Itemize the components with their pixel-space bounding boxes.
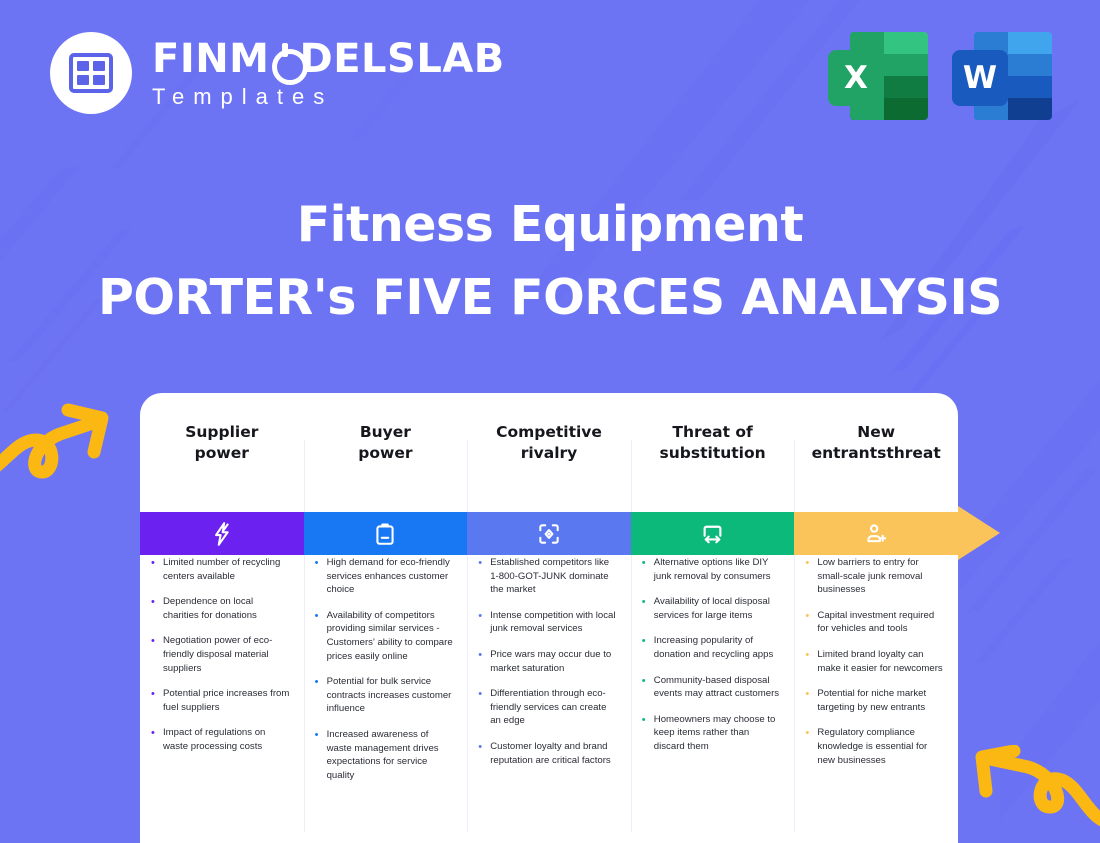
- bullet-text: Established competitors like 1-800-GOT-J…: [490, 556, 617, 597]
- bullet-text: Impact of regulations on waste processin…: [163, 726, 290, 753]
- bullet-dot-icon: •: [642, 595, 648, 622]
- brand-logo: FINMDELSLAB Templates: [50, 32, 505, 114]
- bullet-dot-icon: •: [478, 687, 484, 728]
- bullet-text: Customer loyalty and brand reputation ar…: [490, 740, 617, 767]
- force-header-line2: power: [358, 444, 412, 462]
- list-item: •Intense competition with local junk rem…: [478, 609, 617, 636]
- force-header-line1: Competitive: [496, 423, 602, 441]
- list-item: •Limited number of recycling centers ava…: [151, 556, 290, 583]
- list-item: •Homeowners may choose to keep items rat…: [642, 713, 781, 754]
- bullet-list-threat-of-substitution: •Alternative options like DIY junk remov…: [631, 541, 795, 754]
- bullet-text: Capital investment required for vehicles…: [817, 609, 944, 636]
- bullet-text: Dependence on local charities for donati…: [163, 595, 290, 622]
- bullet-list-new-entrants-threat: •Low barriers to entry for small-scale j…: [794, 541, 958, 767]
- force-header-line1: Supplier: [185, 423, 258, 441]
- bullet-text: Availability of competitors providing si…: [327, 609, 454, 663]
- bullet-dot-icon: •: [151, 687, 157, 714]
- bullet-dot-icon: •: [805, 687, 811, 714]
- bullet-list-buyer-power: •High demand for eco-friendly services e…: [304, 541, 468, 783]
- bullet-dot-icon: •: [478, 556, 484, 597]
- bullet-text: Alternative options like DIY junk remova…: [654, 556, 781, 583]
- force-column-buyer-power: Buyer power •High demand for eco-friendl…: [304, 393, 468, 843]
- bullet-text: Differentiation through eco-friendly ser…: [490, 687, 617, 728]
- force-header-line2: entrantsthreat: [812, 444, 941, 462]
- brand-name: FINMDELSLAB: [152, 39, 505, 79]
- bullet-dot-icon: •: [151, 556, 157, 583]
- force-column-threat-of-substitution: Threat of substitution •Alternative opti…: [631, 393, 795, 843]
- list-item: •Capital investment required for vehicle…: [805, 609, 944, 636]
- bullet-dot-icon: •: [642, 713, 648, 754]
- bullet-text: Increasing popularity of donation and re…: [654, 634, 781, 661]
- list-item: •Potential price increases from fuel sup…: [151, 687, 290, 714]
- brand-name-part1: FINM: [152, 36, 270, 82]
- bullet-list-supplier-power: •Limited number of recycling centers ava…: [140, 541, 304, 754]
- list-item: •Low barriers to entry for small-scale j…: [805, 556, 944, 597]
- list-item: •Potential for niche market targeting by…: [805, 687, 944, 714]
- list-item: •Increased awareness of waste management…: [315, 728, 454, 782]
- list-item: •Regulatory compliance knowledge is esse…: [805, 726, 944, 767]
- bullet-text: Potential price increases from fuel supp…: [163, 687, 290, 714]
- bullet-text: Limited brand loyalty can make it easier…: [817, 648, 944, 675]
- force-header-line2: substitution: [660, 444, 766, 462]
- squiggle-arrow-down-left-icon: [958, 745, 1100, 840]
- bullet-text: Availability of local disposal services …: [654, 595, 781, 622]
- bullet-dot-icon: •: [315, 675, 321, 716]
- page-subtitle: Fitness Equipment: [0, 196, 1100, 253]
- bullet-dot-icon: •: [805, 609, 811, 636]
- bullet-text: Homeowners may choose to keep items rath…: [654, 713, 781, 754]
- excel-icon-letter: X: [828, 50, 884, 106]
- bullet-text: Price wars may occur due to market satur…: [490, 648, 617, 675]
- force-column-new-entrants-threat: New entrantsthreat •Low barriers to entr…: [794, 393, 958, 843]
- bullet-list-competitive-rivalry: •Established competitors like 1-800-GOT-…: [467, 541, 631, 767]
- page-title: PORTER's FIVE FORCES ANALYSIS: [0, 269, 1100, 326]
- bullet-text: High demand for eco-friendly services en…: [327, 556, 454, 597]
- force-column-supplier-power: Supplier power •Limited number of recycl…: [140, 393, 304, 843]
- bullet-text: Limited number of recycling centers avai…: [163, 556, 290, 583]
- list-item: •Community-based disposal events may att…: [642, 674, 781, 701]
- bullet-dot-icon: •: [642, 556, 648, 583]
- forces-columns: Supplier power •Limited number of recycl…: [140, 393, 958, 843]
- list-item: •Availability of local disposal services…: [642, 595, 781, 622]
- list-item: •Customer loyalty and brand reputation a…: [478, 740, 617, 767]
- bullet-text: Community-based disposal events may attr…: [654, 674, 781, 701]
- force-header-new-entrants-threat: New entrantsthreat: [794, 393, 958, 498]
- bullet-text: Regulatory compliance knowledge is essen…: [817, 726, 944, 767]
- force-header-buyer-power: Buyer power: [304, 393, 468, 498]
- bullet-dot-icon: •: [642, 634, 648, 661]
- bullet-text: Potential for niche market targeting by …: [817, 687, 944, 714]
- list-item: •Increasing popularity of donation and r…: [642, 634, 781, 661]
- force-header-competitive-rivalry: Competitive rivalry: [467, 393, 631, 498]
- list-item: •Negotiation power of eco-friendly dispo…: [151, 634, 290, 675]
- bullet-dot-icon: •: [642, 674, 648, 701]
- list-item: •Established competitors like 1-800-GOT-…: [478, 556, 617, 597]
- list-item: •Dependence on local charities for donat…: [151, 595, 290, 622]
- brand-subtitle: Templates: [152, 86, 505, 108]
- bullet-dot-icon: •: [805, 648, 811, 675]
- title-block: Fitness Equipment PORTER's FIVE FORCES A…: [0, 196, 1100, 326]
- bullet-dot-icon: •: [151, 634, 157, 675]
- list-item: •Differentiation through eco-friendly se…: [478, 687, 617, 728]
- word-icon: W: [952, 26, 1052, 122]
- bullet-dot-icon: •: [478, 609, 484, 636]
- bullet-text: Negotiation power of eco-friendly dispos…: [163, 634, 290, 675]
- list-item: •Impact of regulations on waste processi…: [151, 726, 290, 753]
- bullet-dot-icon: •: [478, 740, 484, 767]
- bullet-text: Potential for bulk service contracts inc…: [327, 675, 454, 716]
- list-item: •Potential for bulk service contracts in…: [315, 675, 454, 716]
- grid-logo-icon: [50, 32, 132, 114]
- list-item: •Availability of competitors providing s…: [315, 609, 454, 663]
- list-item: •High demand for eco-friendly services e…: [315, 556, 454, 597]
- bullet-text: Increased awareness of waste management …: [327, 728, 454, 782]
- force-header-line1: Buyer: [360, 423, 411, 441]
- excel-icon: X: [828, 26, 928, 122]
- bullet-dot-icon: •: [151, 726, 157, 753]
- bullet-dot-icon: •: [151, 595, 157, 622]
- force-header-line2: rivalry: [521, 444, 578, 462]
- force-header-threat-of-substitution: Threat of substitution: [631, 393, 795, 498]
- bullet-dot-icon: •: [315, 728, 321, 782]
- force-header-line2: power: [195, 444, 249, 462]
- page-header: FINMDELSLAB Templates X W: [0, 0, 1100, 150]
- squiggle-arrow-up-right-icon: [0, 400, 130, 490]
- brand-name-part2: DELSLAB: [300, 36, 505, 82]
- bullet-dot-icon: •: [478, 648, 484, 675]
- porters-five-forces-card: Supplier power •Limited number of recycl…: [140, 393, 958, 843]
- list-item: •Price wars may occur due to market satu…: [478, 648, 617, 675]
- force-header-line1: Threat of: [672, 423, 752, 441]
- force-header-line1: New: [857, 423, 895, 441]
- band-arrowhead-icon: [958, 506, 1000, 560]
- office-format-icons: X W: [828, 26, 1052, 122]
- list-item: •Limited brand loyalty can make it easie…: [805, 648, 944, 675]
- force-column-competitive-rivalry: Competitive rivalry •Established competi…: [467, 393, 631, 843]
- word-icon-letter: W: [952, 50, 1008, 106]
- bullet-dot-icon: •: [315, 556, 321, 597]
- force-header-supplier-power: Supplier power: [140, 393, 304, 498]
- bullet-text: Intense competition with local junk remo…: [490, 609, 617, 636]
- brand-o-glyph-icon: [270, 45, 300, 75]
- bullet-dot-icon: •: [315, 609, 321, 663]
- bullet-text: Low barriers to entry for small-scale ju…: [817, 556, 944, 597]
- bullet-dot-icon: •: [805, 556, 811, 597]
- bullet-dot-icon: •: [805, 726, 811, 767]
- list-item: •Alternative options like DIY junk remov…: [642, 556, 781, 583]
